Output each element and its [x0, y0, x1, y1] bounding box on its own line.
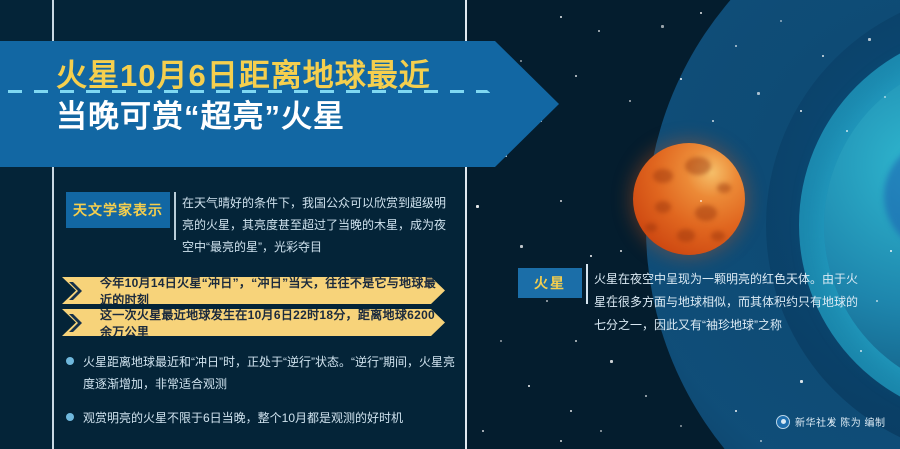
- star: [860, 350, 862, 352]
- star: [570, 410, 572, 412]
- left-rule-top: [52, 0, 54, 41]
- bullet-dot-icon: [66, 357, 74, 365]
- star: [876, 300, 878, 302]
- star: [846, 130, 848, 132]
- credit-text: 新华社发 陈为 编制: [795, 414, 886, 429]
- star: [780, 20, 782, 22]
- highlight-banner: 今年10月14日火星“冲日”，“冲日”当天，往往不是它与地球最近的时刻: [62, 277, 445, 304]
- star: [884, 96, 886, 98]
- page-title: 火星10月6日距离地球最近 当晚可赏“超亮”火星: [56, 55, 526, 137]
- star: [868, 38, 871, 41]
- star: [520, 245, 523, 248]
- star: [500, 340, 502, 342]
- star: [760, 440, 762, 442]
- star: [800, 110, 802, 112]
- mars-tag: 火星: [518, 268, 582, 298]
- star: [476, 205, 479, 208]
- star: [610, 360, 613, 363]
- credit: 新华社发 陈为 编制: [776, 414, 886, 429]
- star: [528, 385, 530, 387]
- star: [822, 55, 824, 57]
- xinhua-logo-icon: [776, 415, 790, 429]
- star: [575, 340, 577, 342]
- star: [482, 430, 484, 432]
- star: [700, 12, 702, 14]
- star: [680, 78, 682, 80]
- star: [757, 92, 760, 95]
- star: [560, 16, 562, 18]
- infographic-root: 火星10月6日距离地球最近 当晚可赏“超亮”火星 天文学家表示 在天气晴好的条件…: [0, 0, 900, 449]
- title-line-1: 火星10月6日距离地球最近: [56, 55, 526, 96]
- list-item: 观赏明亮的火星不限于6日当晚，整个10月都是观测的好时机: [66, 408, 458, 430]
- left-rule-bottom: [52, 167, 54, 449]
- star: [600, 430, 602, 432]
- star: [800, 380, 803, 383]
- star: [735, 45, 737, 47]
- star: [680, 425, 682, 427]
- mars-tag-label: 火星: [534, 273, 566, 293]
- star: [645, 395, 647, 397]
- list-item: 火星距离地球最近和“冲日”时，正处于“逆行”状态。“逆行”期间，火星亮度逐渐增加…: [66, 352, 458, 395]
- title-line-2: 当晚可赏“超亮”火星: [56, 96, 526, 137]
- astronomer-tag-label: 天文学家表示: [73, 200, 163, 220]
- highlight-banner: 这一次火星最近地球发生在10月6日22时18分，距离地球6200余万公里: [62, 309, 445, 336]
- bullet-dot-icon: [66, 413, 74, 421]
- mars-caption: 火星 火星在夜空中呈现为一颗明亮的红色天体。由于火星在很多方面与地球相似，而其体…: [518, 268, 864, 336]
- star: [735, 410, 737, 412]
- mars-caption-text: 火星在夜空中呈现为一颗明亮的红色天体。由于火星在很多方面与地球相似，而其体积约只…: [594, 268, 864, 336]
- star: [629, 100, 631, 102]
- highlight-text: 这一次火星最近地球发生在10月6日22时18分，距离地球6200余万公里: [62, 306, 445, 340]
- astronomer-text: 在天气晴好的条件下，我国公众可以欣赏到超级明亮的火星，其亮度甚至超过了当晚的木星…: [182, 192, 456, 259]
- astronomer-tag: 天文学家表示: [66, 192, 170, 228]
- astronomer-statement: 天文学家表示 在天气晴好的条件下，我国公众可以欣赏到超级明亮的火星，其亮度甚至超…: [66, 192, 456, 259]
- star: [620, 250, 622, 252]
- star: [890, 250, 892, 252]
- star: [598, 30, 600, 32]
- star: [575, 75, 577, 77]
- bullet-list: 火星距离地球最近和“冲日”时，正处于“逆行”状态。“逆行”期间，火星亮度逐渐增加…: [66, 352, 458, 443]
- star: [560, 200, 562, 202]
- star: [712, 120, 714, 122]
- bullet-text: 火星距离地球最近和“冲日”时，正处于“逆行”状态。“逆行”期间，火星亮度逐渐增加…: [83, 352, 458, 395]
- star: [590, 255, 592, 257]
- star: [661, 25, 664, 28]
- star: [560, 440, 562, 442]
- star: [700, 200, 702, 202]
- mars-planet: [633, 143, 745, 255]
- highlight-text: 今年10月14日火星“冲日”，“冲日”当天，往往不是它与地球最近的时刻: [62, 274, 445, 308]
- bullet-text: 观赏明亮的火星不限于6日当晚，整个10月都是观测的好时机: [83, 408, 403, 430]
